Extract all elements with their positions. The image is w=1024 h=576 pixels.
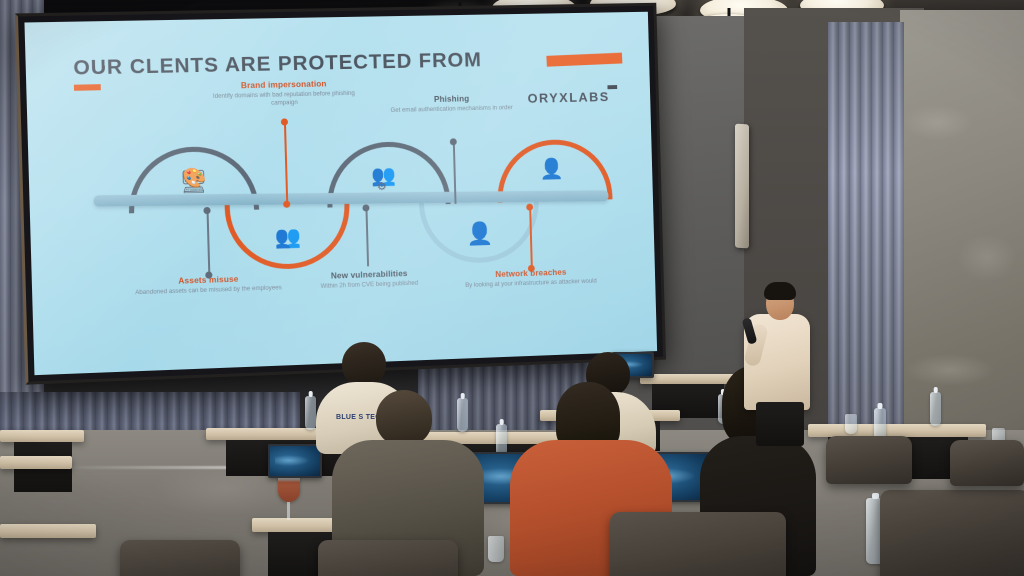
drinking-glass[interactable] [845, 414, 857, 434]
label-assets-misuse: Assets misuse Abandoned assets can be mi… [131, 273, 286, 298]
user-avatar-icon: 👤 [463, 222, 497, 245]
person-at-desk-icon: 🎨 [177, 169, 212, 189]
table-left-lower [0, 456, 72, 469]
connector-dot [450, 138, 457, 145]
far-textured-wall [900, 10, 1024, 460]
label-new-vulnerabilities: New vulnerabilities Within 2h from CVE b… [295, 268, 443, 292]
chair-right-row[interactable] [826, 436, 912, 484]
slide-surface: OUR CLENTS ARE PROTECTED FROM ORYXLABS 🖥… [24, 12, 657, 375]
presenter-hair [764, 282, 796, 300]
projection-screen: OUR CLENTS ARE PROTECTED FROM ORYXLABS 🖥… [15, 3, 666, 385]
laptop-left[interactable] [268, 444, 322, 478]
connector-dot [362, 204, 369, 211]
attendee-head-grey-jacket [376, 390, 432, 446]
water-bottle[interactable] [930, 392, 941, 426]
water-bottle[interactable] [305, 396, 316, 430]
water-bottle[interactable] [457, 398, 468, 432]
connector-brand-impersonation [284, 122, 288, 204]
wall-sconce-icon [735, 124, 749, 249]
chair-foreground-right[interactable] [880, 490, 1024, 576]
label-brand-impersonation: Brand impersonation Identify domains wit… [203, 79, 365, 110]
label-phishing: Phishing Get email authentication mechan… [384, 93, 519, 115]
table-left-front [0, 524, 96, 538]
presentation-photo: OUR CLENTS ARE PROTECTED FROM ORYXLABS 🖥… [0, 0, 1024, 576]
connector-new-vulnerabilities [365, 208, 369, 266]
wine-glass-stem [287, 502, 290, 520]
curtain-right [828, 22, 904, 452]
chair-foreground-left[interactable] [318, 540, 458, 576]
table-left-upper [0, 430, 84, 442]
chair-mid-left[interactable] [120, 540, 240, 576]
two-people-icon: 👥 [269, 226, 308, 248]
attendee-head [342, 342, 386, 386]
infographic: 🖥 🎨 👥 👥 ⚙ 👤 👤 [24, 12, 657, 375]
label-body: Get email authentication mechanisms in o… [385, 104, 519, 115]
connector-assets-misuse [207, 211, 211, 276]
hacker-person-icon: 👤 [532, 159, 571, 180]
drinking-glass[interactable] [488, 536, 504, 562]
connector-dot [203, 207, 210, 214]
label-body: Identify domains with bad reputation bef… [203, 90, 364, 110]
chair-foreground-center[interactable] [610, 512, 786, 576]
presenter-trousers [756, 402, 804, 446]
connector-dot [281, 118, 288, 125]
chair-right-back[interactable] [950, 440, 1024, 486]
label-heading: Phishing [384, 93, 518, 105]
table-back-right [640, 374, 736, 384]
label-network-breaches: Network breaches By looking at your infr… [456, 266, 605, 290]
connector-phishing [453, 142, 457, 204]
